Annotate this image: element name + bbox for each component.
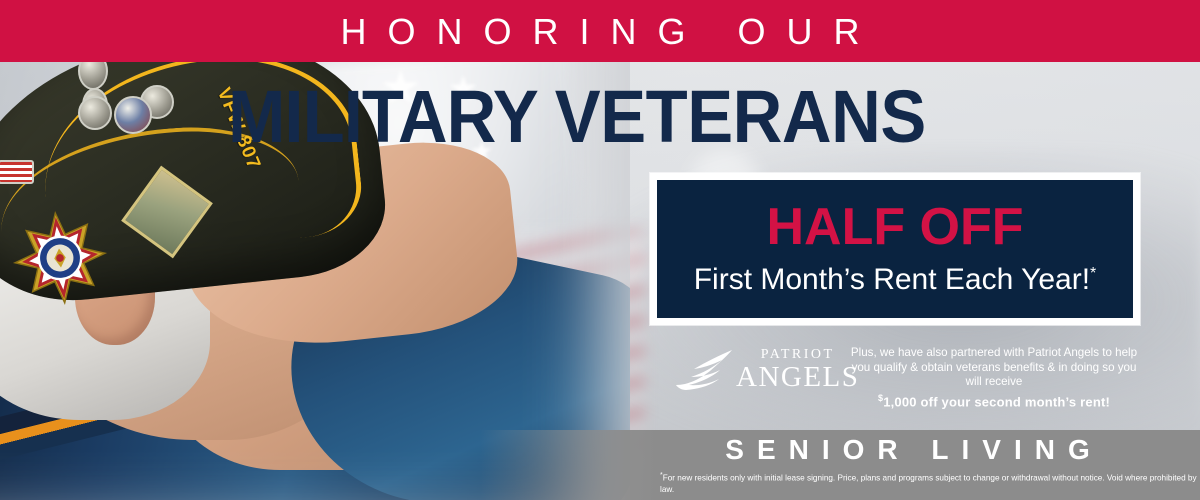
angel-wing-icon bbox=[676, 349, 734, 391]
headline-word-veterans: VETERANS bbox=[555, 75, 926, 158]
cap-pin bbox=[78, 96, 112, 130]
veterans-promo-banner: ★ ★ ★ ★ ★ ★ ★ ★ VFW 807 bbox=[0, 0, 1200, 500]
partner-block: PATRIOT ANGELS Plus, we have also partne… bbox=[676, 344, 1146, 416]
top-crimson-bar: HONORING OUR bbox=[0, 0, 1200, 62]
offer-callout-box: HALF OFF First Month’s Rent Each Year!* bbox=[650, 173, 1140, 325]
offer-asterisk: * bbox=[1090, 265, 1096, 282]
cap-flag-pin bbox=[0, 160, 34, 184]
partner-bonus-line: $1,000 off your second month’s rent! bbox=[842, 391, 1146, 410]
offer-subline-text: First Month’s Rent Each Year! bbox=[694, 263, 1090, 296]
partner-description: Plus, we have also partnered with Patrio… bbox=[851, 346, 1137, 388]
partner-description-wrap: Plus, we have also partnered with Patrio… bbox=[836, 344, 1146, 409]
patriot-angels-logo: PATRIOT ANGELS bbox=[676, 344, 836, 392]
page-title: MILITARY VETERANS bbox=[228, 78, 926, 156]
disclaimer-text: For new residents only with initial leas… bbox=[660, 474, 1197, 494]
brand-name: SENIOR LIVING bbox=[615, 434, 1200, 466]
bonus-text: 1,000 off your second month’s rent! bbox=[883, 394, 1110, 409]
eyebrow-text: HONORING OUR bbox=[0, 12, 1200, 52]
offer-callout-inner: HALF OFF First Month’s Rent Each Year!* bbox=[657, 180, 1133, 318]
headline-word-military: MILITARY bbox=[228, 75, 555, 158]
offer-subline: First Month’s Rent Each Year!* bbox=[694, 257, 1097, 297]
offer-headline: HALF OFF bbox=[766, 201, 1023, 253]
legal-disclaimer: *For new residents only with initial lea… bbox=[660, 470, 1200, 495]
cap-pin bbox=[114, 96, 152, 134]
vfw-cross-emblem bbox=[7, 205, 113, 311]
